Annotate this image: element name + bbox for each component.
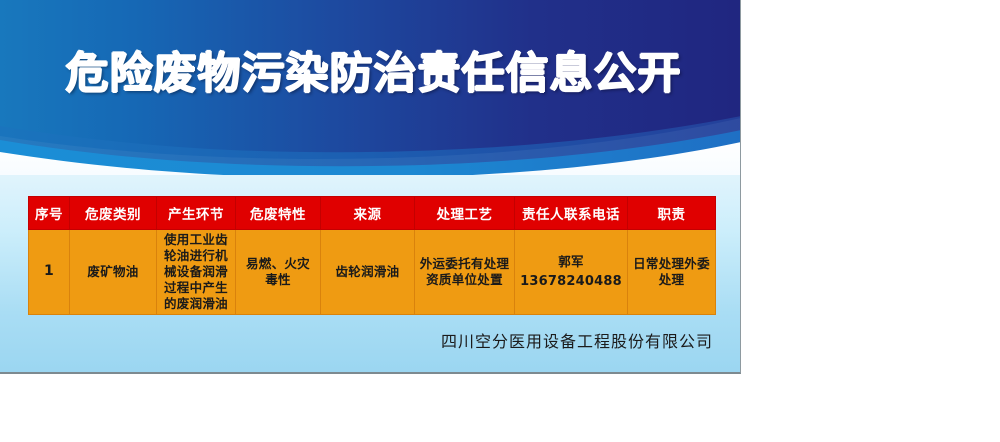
column-header-contact-phone: 责任人联系电话 [515,197,628,230]
cell-category: 废矿物油 [70,230,157,315]
cell-technology: 外运委托有处理资质单位处置 [415,230,515,315]
cell-source-text: 齿轮润滑油 [321,262,414,282]
cell-category-text: 废矿物油 [70,262,156,282]
column-header-technology: 处理工艺 [415,197,515,230]
poster-header-band [0,0,741,175]
cell-duty-text: 日常处理外委处理 [628,254,715,290]
cell-contact: 郭军 13678240488 [515,230,628,315]
cell-person-name: 郭军 [515,252,627,272]
column-header-characteristics: 危废特性 [236,197,321,230]
page-root: 危险废物污染防治责任信息公开 序号 危废类别 产生环节 危废特性 来源 处理工艺… [0,0,1000,442]
hazardous-waste-table: 序号 危废类别 产生环节 危废特性 来源 处理工艺 责任人联系电话 职责 1 废… [28,196,716,315]
table-header-row: 序号 危废类别 产生环节 危废特性 来源 处理工艺 责任人联系电话 职责 [29,197,716,230]
cell-source: 齿轮润滑油 [321,230,415,315]
column-header-source: 来源 [321,197,415,230]
cell-characteristics-text: 易燃、火灾毒性 [236,254,320,290]
company-name: 四川空分医用设备工程股份有限公司 [28,328,713,352]
column-header-category: 危废类别 [70,197,157,230]
column-header-index: 序号 [29,197,70,230]
cell-characteristics: 易燃、火灾毒性 [236,230,321,315]
table-row: 1 废矿物油 使用工业齿轮油进行机械设备润滑过程中产生的废润滑油 易燃、火灾毒性… [29,230,716,315]
table-body: 1 废矿物油 使用工业齿轮油进行机械设备润滑过程中产生的废润滑油 易燃、火灾毒性… [29,230,716,315]
cell-technology-text: 外运委托有处理资质单位处置 [415,254,514,290]
table-header: 序号 危废类别 产生环节 危废特性 来源 处理工艺 责任人联系电话 职责 [29,197,716,230]
cell-duty: 日常处理外委处理 [628,230,716,315]
cell-phone-number: 13678240488 [515,272,627,293]
column-header-duty: 职责 [628,197,716,230]
cell-process-text: 使用工业齿轮油进行机械设备润滑过程中产生的废润滑油 [157,230,235,314]
hazardous-waste-poster: 危险废物污染防治责任信息公开 序号 危废类别 产生环节 危废特性 来源 处理工艺… [0,0,741,374]
cell-index-text: 1 [29,261,69,283]
cell-index: 1 [29,230,70,315]
header-swoosh-graphic [0,0,741,175]
cell-process: 使用工业齿轮油进行机械设备润滑过程中产生的废润滑油 [157,230,236,315]
column-header-process: 产生环节 [157,197,236,230]
